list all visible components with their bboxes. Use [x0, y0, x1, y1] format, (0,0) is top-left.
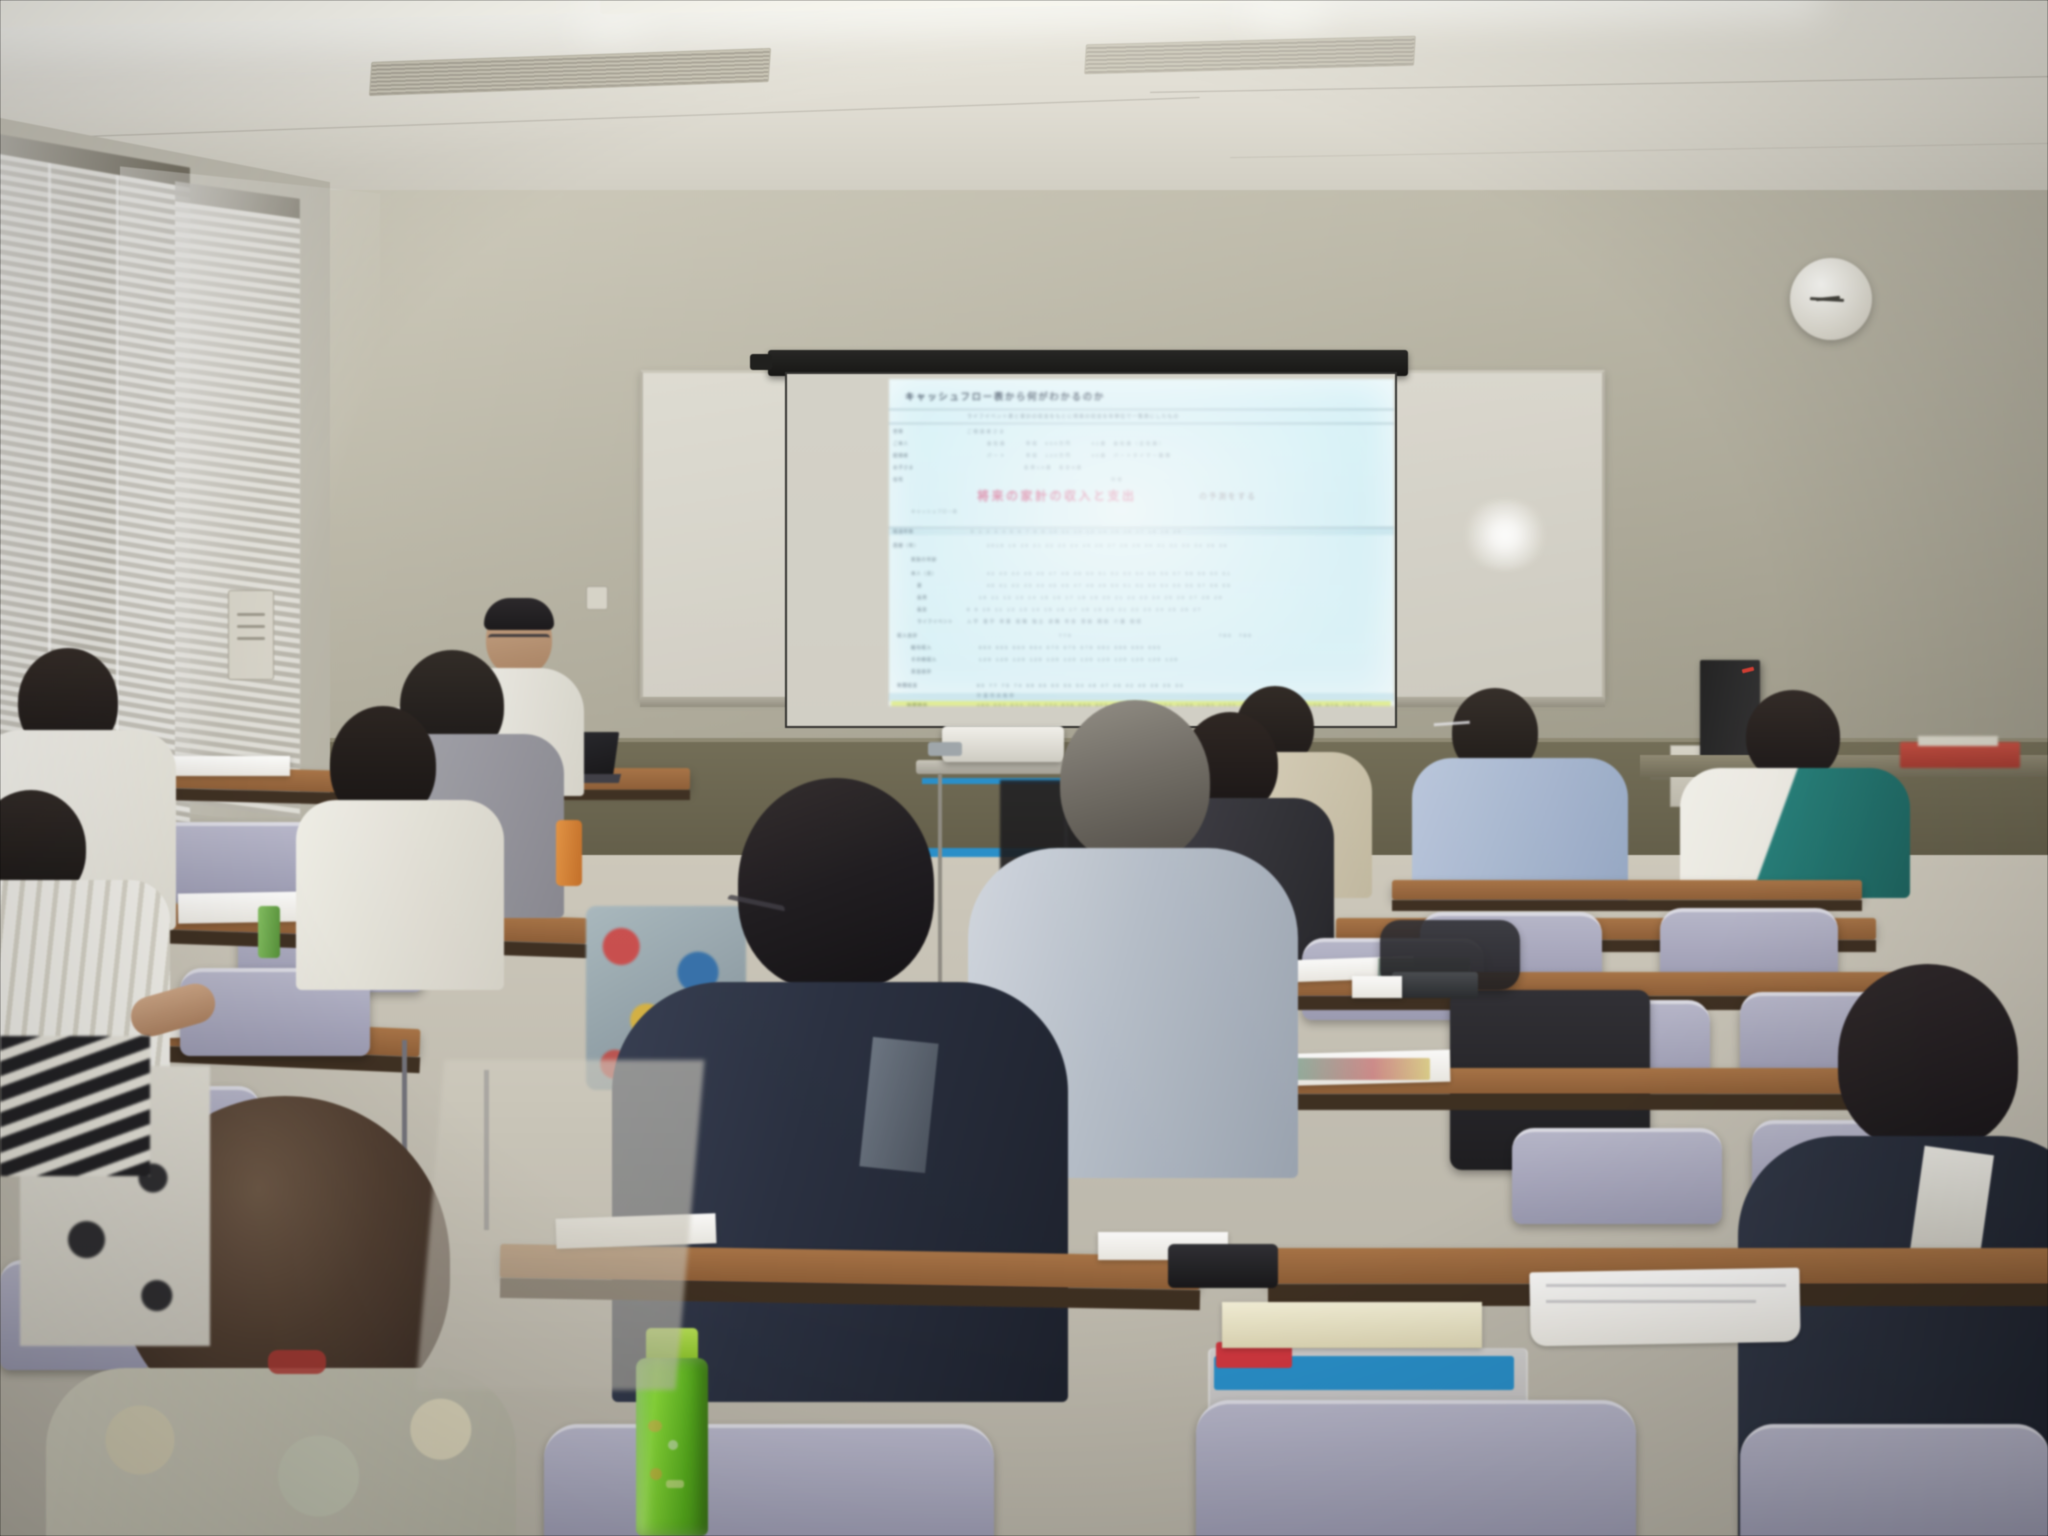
light-switch[interactable]: [586, 586, 608, 610]
attendee-torso: [1680, 768, 1910, 898]
wall-intercom[interactable]: [228, 590, 274, 680]
slide-subtitle: ライフイベント表と家計の収支をもとに将来の収支を年単位で一覧表にしたもの: [967, 413, 1179, 420]
chair[interactable]: [1512, 1128, 1722, 1224]
ceiling-light-wash: [0, 0, 2048, 200]
seminar-room-photo: キャッシュフロー表から何がわかるのか ライフイベント表と家計の収支をもとに将来の…: [0, 0, 2048, 1536]
collar-accent: [268, 1350, 326, 1374]
document-text-line: [1546, 1300, 1756, 1303]
attendee-torso: [296, 800, 504, 990]
folder: [1222, 1302, 1482, 1348]
attendee-head: [738, 778, 934, 990]
desk-row-3: [1392, 880, 1862, 900]
striped-fabric: [0, 1036, 150, 1176]
slide-title: キャッシュフロー表から何がわかるのか: [905, 389, 1105, 403]
projector-lens-icon: [928, 742, 962, 756]
bottle-label: [646, 1416, 694, 1506]
slide-highlight-row-label: 貯蓄残高: [907, 703, 928, 706]
smartphone[interactable]: [1168, 1244, 1278, 1288]
presenter-hair: [484, 598, 554, 630]
attendee-collar: [859, 1037, 938, 1173]
floor-aisle: [416, 1060, 705, 1390]
shelf-paper: [1918, 736, 1998, 746]
attendee-head: [1060, 700, 1210, 864]
whiteboard-glare-icon: [1460, 500, 1550, 570]
open-document: [1529, 1268, 1800, 1347]
attendee-blouse: [46, 1368, 516, 1536]
glasses-icon: [488, 634, 550, 645]
printed-handout: [170, 756, 290, 776]
attendee-head: [1838, 964, 2018, 1150]
projected-slide: キャッシュフロー表から何がわかるのか ライフイベント表と家計の収支をもとに将来の…: [889, 379, 1394, 706]
cart-leg: [938, 774, 942, 1004]
chair[interactable]: [1740, 1424, 2048, 1536]
wall-clock: [1790, 258, 1872, 340]
calculator[interactable]: [1392, 972, 1478, 998]
chair[interactable]: [1196, 1400, 1636, 1536]
handout-color-graphic: [1288, 1058, 1430, 1080]
note-card: [1352, 976, 1402, 998]
drink-bottle: [556, 820, 582, 886]
chair[interactable]: [544, 1424, 994, 1536]
slide-red-callout-tail: の予測をする: [1199, 491, 1257, 502]
slide-highlight-row-cells: 480 557 632 706 774 839 899 955 1009 105…: [977, 703, 1373, 706]
drink-bottle: [258, 906, 280, 958]
projection-screen: キャッシュフロー表から何がわかるのか ライフイベント表と家計の収支をもとに将来の…: [785, 372, 1397, 728]
slide-red-callout: 将来の家計の収入と支出: [977, 487, 1137, 504]
document-text-line: [1546, 1284, 1786, 1287]
